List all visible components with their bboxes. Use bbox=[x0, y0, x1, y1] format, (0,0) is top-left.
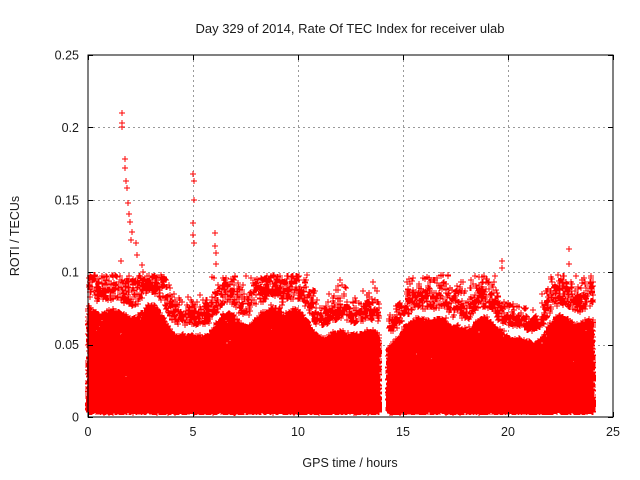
chart-container: Day 329 of 2014, Rate Of TEC Index for r… bbox=[0, 0, 640, 480]
y-tick-label: 0.2 bbox=[62, 121, 79, 135]
y-tick-label: 0.25 bbox=[55, 49, 79, 63]
scatter-plot-svg: Day 329 of 2014, Rate Of TEC Index for r… bbox=[0, 0, 640, 480]
y-axis-label: ROTI / TECUs bbox=[8, 196, 22, 276]
x-tick-label: 5 bbox=[190, 425, 197, 439]
x-tick-label: 10 bbox=[291, 425, 305, 439]
x-tick-label: 0 bbox=[85, 425, 92, 439]
x-tick-label: 20 bbox=[501, 425, 515, 439]
x-axis-label: GPS time / hours bbox=[302, 456, 397, 470]
y-tick-label: 0 bbox=[72, 411, 79, 425]
y-tick-label: 0.15 bbox=[55, 193, 79, 207]
y-tick-label: 0.1 bbox=[62, 266, 79, 280]
chart-title: Day 329 of 2014, Rate Of TEC Index for r… bbox=[195, 21, 504, 36]
x-tick-label: 15 bbox=[396, 425, 410, 439]
x-tick-label: 25 bbox=[606, 425, 620, 439]
y-tick-label: 0.05 bbox=[55, 338, 79, 352]
